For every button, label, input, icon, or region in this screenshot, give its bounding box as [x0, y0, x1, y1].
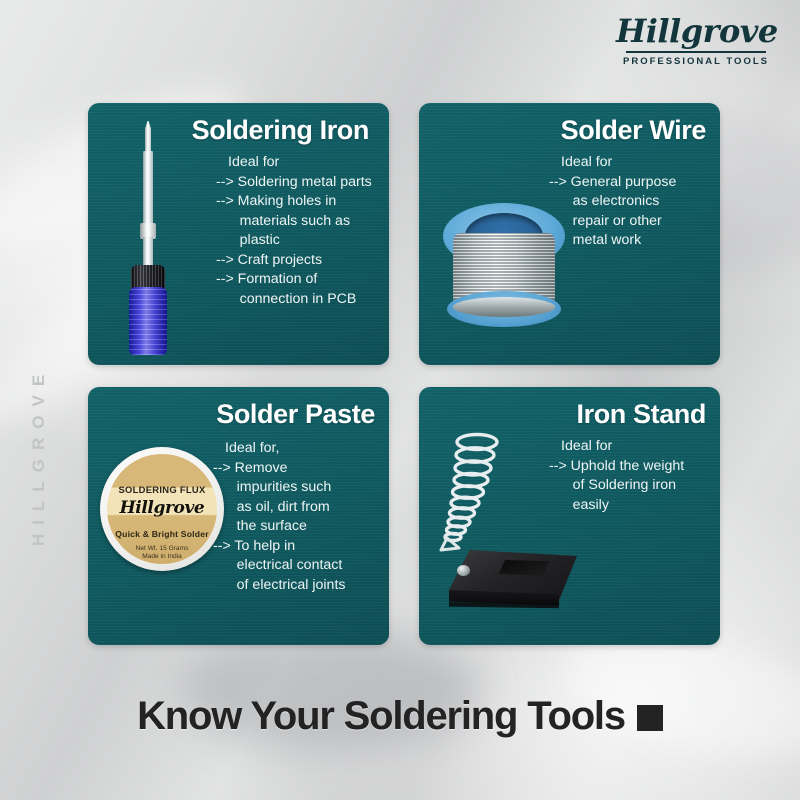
card-iron-stand[interactable]: Iron Stand Ideal for --> Uphold the weig…: [419, 387, 720, 645]
iron-handle: [129, 287, 167, 355]
footer-headline: Know Your Soldering Tools: [0, 694, 800, 739]
ideal-for-label-4: Ideal for: [549, 437, 719, 457]
logo-wordmark: Hillgrove: [616, 14, 776, 48]
flux-label-slogan: Quick & Bright Solder: [107, 529, 217, 539]
stand-tray-recess: [499, 560, 549, 576]
flux-label-product: SOLDERING FLUX: [107, 484, 217, 495]
card-title-solder-wire: Solder Wire: [419, 115, 706, 146]
bullet-item: --> Uphold the weight of Soldering iron …: [549, 457, 719, 516]
card-soldering-iron[interactable]: Soldering Iron Ideal for --> Soldering m…: [88, 103, 389, 365]
flux-tin-label: SOLDERING FLUX Hillgrove Quick & Bright …: [107, 454, 217, 564]
stand-coil-spring: [437, 432, 511, 554]
brand-logo: Hillgrove PROFESSIONAL TOOLS: [616, 14, 776, 67]
product-card-grid: Soldering Iron Ideal for --> Soldering m…: [88, 103, 720, 645]
logo-tagline: PROFESSIONAL TOOLS: [616, 56, 776, 67]
card-title-iron-stand: Iron Stand: [419, 399, 706, 430]
iron-shaft-upper: [143, 151, 153, 229]
bullet-item: --> Formation of connection in PCB: [216, 270, 388, 309]
card-body-iron-stand: Ideal for --> Uphold the weight of Solde…: [549, 437, 719, 515]
card-body-solder-paste: Ideal for, --> Remove impurities such as…: [213, 439, 389, 595]
spool-wire-rim: [453, 297, 555, 317]
card-solder-wire[interactable]: Solder Wire Ideal for --> General purpos…: [419, 103, 720, 365]
stand-mount-screw: [457, 565, 470, 576]
soldering-iron-image: [112, 117, 184, 355]
bullet-item: --> General purpose as electronics repai…: [549, 173, 717, 251]
footer-square-accent: [637, 705, 663, 731]
ideal-for-label-1: Ideal for: [216, 153, 388, 173]
card-title-solder-paste: Solder Paste: [88, 399, 375, 430]
bullet-item: --> To help in electrical contact of ele…: [213, 537, 389, 596]
flux-tin-image: SOLDERING FLUX Hillgrove Quick & Bright …: [100, 447, 224, 571]
ideal-for-label-2: Ideal for: [549, 153, 717, 173]
bullet-item: --> Craft projects: [216, 251, 388, 271]
footer-headline-text: Know Your Soldering Tools: [137, 694, 625, 738]
bullet-item: --> Soldering metal parts: [216, 173, 388, 193]
logo-divider: [626, 51, 766, 53]
bullet-item: --> Remove impurities such as oil, dirt …: [213, 459, 389, 537]
ideal-for-label-3: Ideal for,: [213, 439, 389, 459]
flux-label-brand: Hillgrove: [107, 498, 217, 518]
bullet-item: --> Making holes in materials such as pl…: [216, 192, 388, 251]
flux-label-netweight: Net Wt. 15 Grams Made in India: [107, 545, 217, 562]
side-wordmark: HILLGROVE: [22, 288, 56, 624]
card-body-soldering-iron: Ideal for --> Soldering metal parts --> …: [216, 153, 388, 309]
card-title-soldering-iron: Soldering Iron: [88, 115, 375, 146]
card-body-solder-wire: Ideal for --> General purpose as electro…: [549, 153, 717, 251]
card-solder-paste[interactable]: SOLDERING FLUX Hillgrove Quick & Bright …: [88, 387, 389, 645]
